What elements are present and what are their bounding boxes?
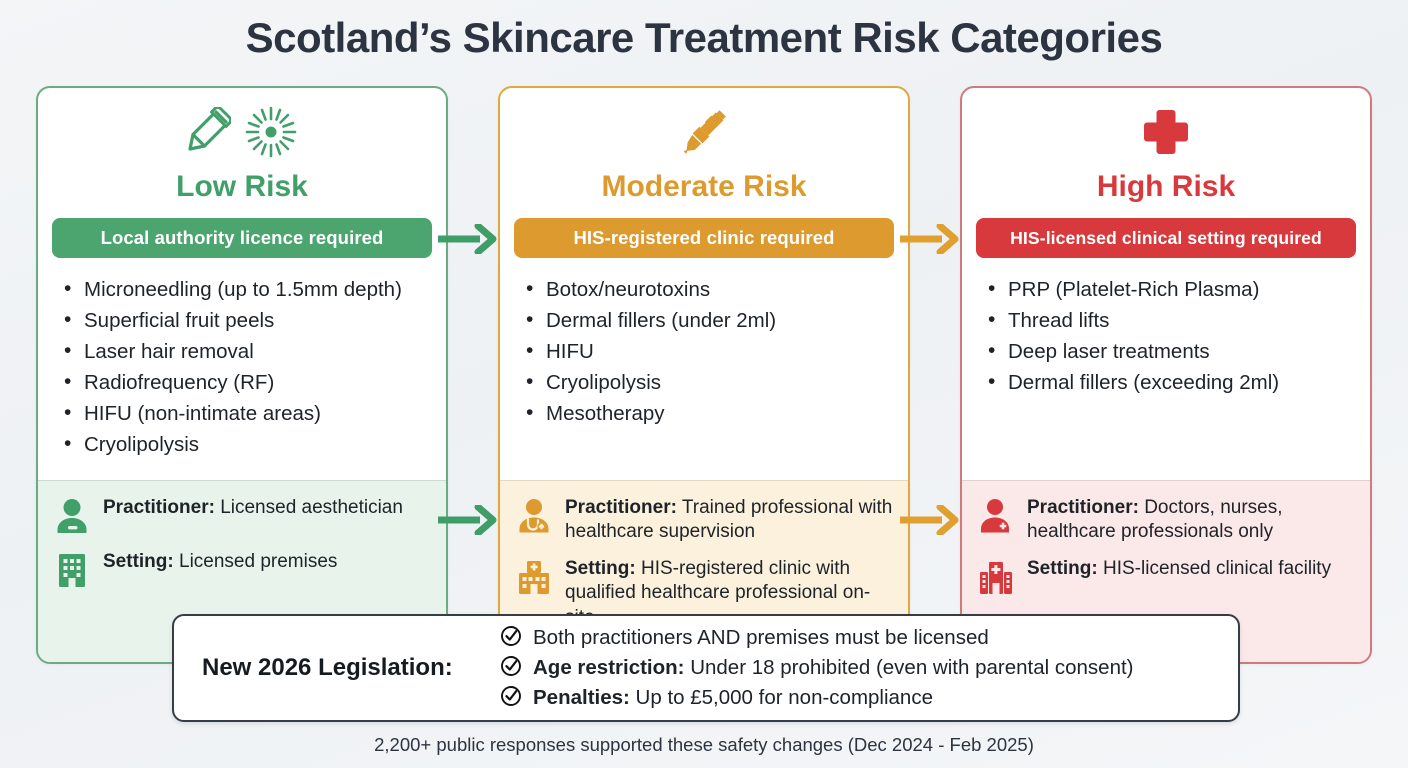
practitioner-label-low: Practitioner: [103,497,215,518]
list-item: Cryolipolysis [522,369,894,396]
footnote: 2,200+ public responses supported these … [0,734,1408,756]
laser-burst-icon [245,106,297,163]
setting-label-high: Setting: [1027,558,1098,579]
medical-cross-icon [1140,106,1192,163]
legislation-callout: New 2026 Legislation: Both practitioners… [172,614,1240,722]
practitioner-row-moderate: Practitioner: Trained professional with … [514,495,894,544]
list-item: HIFU [522,338,894,365]
setting-value-high: HIS-licensed clinical facility [1098,558,1331,579]
list-item: Deep laser treatments [984,338,1356,365]
legislation-label: New 2026 Legislation: [202,654,500,682]
list-item: Superficial fruit peels [60,307,432,334]
list-item: Thread lifts [984,307,1356,334]
legislation-item: Both practitioners AND premises must be … [500,625,1220,652]
treatment-list-moderate: Botox/neurotoxins Dermal fillers (under … [500,258,908,480]
legislation-body: Under 18 prohibited (even with parental … [685,656,1134,679]
person-icon [52,495,92,537]
legislation-text: Both practitioners AND premises must be … [533,625,989,652]
dropper-icon [187,107,231,162]
setting-row-high: Setting: HIS-licensed clinical facility [976,556,1356,598]
setting-value-low: Licensed premises [174,551,338,572]
legislation-bold: Age restriction: [533,656,685,679]
card-header-moderate: Moderate Risk HIS-registered clinic requ… [500,88,908,258]
practitioner-label-high: Practitioner: [1027,497,1139,518]
arrow-moderate-to-high-bottom [900,505,962,540]
practitioner-value-low: Licensed aesthetician [215,497,403,518]
page-title: Scotland’s Skincare Treatment Risk Categ… [0,14,1408,62]
syringe-icon [678,106,730,163]
clinic-icon [514,556,554,598]
doctor-icon [514,495,554,537]
check-circle-icon [500,655,522,682]
list-item: Mesotherapy [522,400,894,427]
badge-wrap-moderate: HIS-registered clinic required [514,218,894,258]
list-item: Microneedling (up to 1.5mm depth) [60,276,432,303]
medical-person-icon [976,495,1016,537]
practitioner-text-moderate: Practitioner: Trained professional with … [565,495,894,544]
badge-wrap-low: Local authority licence required [52,218,432,258]
badge-wrap-high: HIS-licensed clinical setting required [976,218,1356,258]
status-badge-moderate: HIS-registered clinic required [514,218,894,258]
check-circle-icon [500,685,522,712]
legislation-body: Up to £5,000 for non-compliance [630,686,933,709]
card-header-high: High Risk HIS-licensed clinical setting … [962,88,1370,258]
list-item: Cryolipolysis [60,431,432,458]
legislation-text: Age restriction: Under 18 prohibited (ev… [533,655,1134,682]
setting-label-moderate: Setting: [565,558,636,579]
risk-title-high: High Risk [976,170,1356,204]
building-icon [52,549,92,591]
setting-text-low: Setting: Licensed premises [103,549,337,574]
risk-title-low: Low Risk [52,170,432,204]
arrow-low-to-moderate-bottom [438,505,500,540]
risk-card-moderate: Moderate Risk HIS-registered clinic requ… [498,86,910,664]
practitioner-text-low: Practitioner: Licensed aesthetician [103,495,403,520]
legislation-item: Age restriction: Under 18 prohibited (ev… [500,655,1220,682]
hospital-icon [976,556,1016,598]
legislation-body: Both practitioners AND premises must be … [533,626,989,649]
setting-row-low: Setting: Licensed premises [52,549,432,591]
list-item: Dermal fillers (under 2ml) [522,307,894,334]
legislation-text: Penalties: Up to £5,000 for non-complian… [533,685,933,712]
legislation-bold: Penalties: [533,686,630,709]
arrow-moderate-to-high-top [900,224,962,259]
legislation-items: Both practitioners AND premises must be … [500,625,1220,712]
practitioner-text-high: Practitioner: Doctors, nurses, healthcar… [1027,495,1356,544]
list-item: Botox/neurotoxins [522,276,894,303]
treatment-list-high: PRP (Platelet-Rich Plasma) Thread lifts … [962,258,1370,480]
setting-text-high: Setting: HIS-licensed clinical facility [1027,556,1331,581]
risk-title-moderate: Moderate Risk [514,170,894,204]
risk-card-low: Low Risk Local authority licence require… [36,86,448,664]
infographic-root: Scotland’s Skincare Treatment Risk Categ… [0,0,1408,768]
practitioner-row-high: Practitioner: Doctors, nurses, healthcar… [976,495,1356,544]
check-circle-icon [500,625,522,652]
setting-label-low: Setting: [103,551,174,572]
card-header-low: Low Risk Local authority licence require… [38,88,446,258]
list-item: HIFU (non-intimate areas) [60,400,432,427]
list-item: Dermal fillers (exceeding 2ml) [984,369,1356,396]
icon-row-high [976,102,1356,166]
practitioner-row-low: Practitioner: Licensed aesthetician [52,495,432,537]
list-item: Radiofrequency (RF) [60,369,432,396]
status-badge-low: Local authority licence required [52,218,432,258]
arrow-low-to-moderate-top [438,224,500,259]
practitioner-label-moderate: Practitioner: [565,497,677,518]
icon-row-moderate [514,102,894,166]
legislation-item: Penalties: Up to £5,000 for non-complian… [500,685,1220,712]
icon-row-low [52,102,432,166]
status-badge-high: HIS-licensed clinical setting required [976,218,1356,258]
list-item: PRP (Platelet-Rich Plasma) [984,276,1356,303]
risk-card-high: High Risk HIS-licensed clinical setting … [960,86,1372,664]
list-item: Laser hair removal [60,338,432,365]
treatment-list-low: Microneedling (up to 1.5mm depth) Superf… [38,258,446,480]
